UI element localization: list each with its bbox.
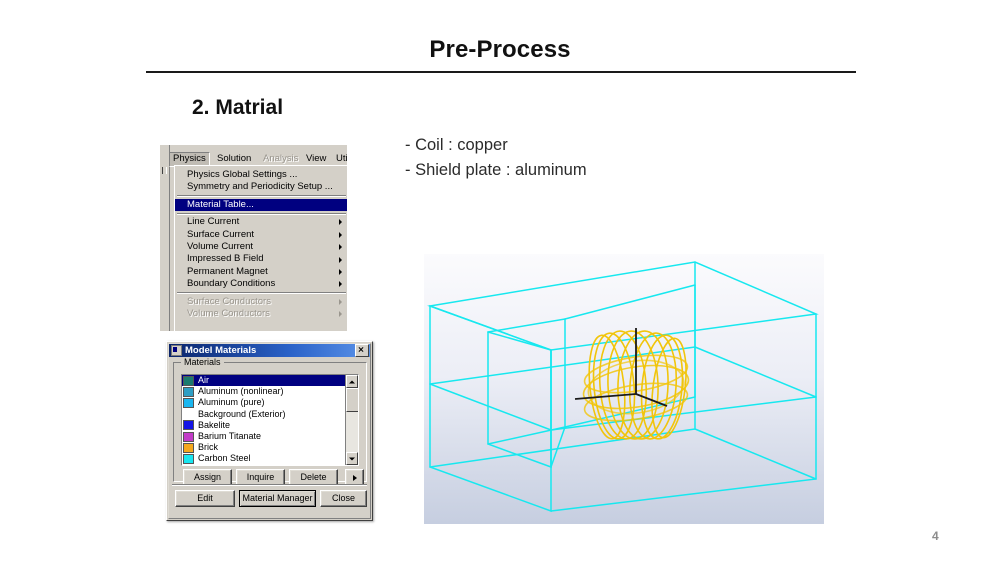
menubar-item-utility[interactable]: Uti	[332, 152, 347, 165]
dialog-footer-buttons: Edit Material Manager Close	[175, 490, 365, 506]
material-color-swatch	[183, 387, 194, 397]
material-name: Barium Titanate	[198, 431, 261, 442]
wireframe-model	[424, 254, 824, 524]
menu-separator	[177, 195, 346, 197]
material-name: Background (Exterior)	[198, 409, 286, 420]
menu-item-label: Line Current	[187, 216, 239, 227]
material-color-swatch	[183, 443, 194, 453]
menu-item-label: Impressed B Field	[187, 253, 264, 264]
menu-item-label: Volume Conductors	[187, 308, 270, 319]
menu-item-label: Boundary Conditions	[187, 278, 275, 289]
menu-separator	[177, 213, 346, 215]
submenu-arrow-icon	[339, 244, 342, 250]
materials-groupbox: Materials Air Aluminum (nonlinear) Alumi…	[173, 362, 367, 482]
submenu-arrow-icon	[339, 269, 342, 275]
menu-item-volume-conductors: Volume Conductors	[175, 308, 347, 320]
material-color-swatch	[183, 376, 194, 386]
list-item[interactable]: Air	[182, 375, 345, 386]
material-color-swatch	[183, 409, 194, 419]
material-color-swatch	[183, 454, 194, 464]
dialog-titlebar[interactable]: Model Materials	[169, 344, 370, 357]
menu-item-material-table[interactable]: Material Table...	[175, 199, 347, 211]
menu-item-volume-current[interactable]: Volume Current	[175, 241, 347, 253]
material-name: Aluminum (pure)	[198, 397, 265, 408]
close-icon[interactable]	[355, 344, 369, 357]
menu-separator	[177, 292, 346, 294]
toolbar-fragment	[160, 145, 170, 331]
scrollbar-thumb[interactable]	[346, 388, 359, 412]
inner-box-wireframe	[488, 285, 695, 467]
menu-item-impressed-b-field[interactable]: Impressed B Field	[175, 253, 347, 265]
page-title: Pre-Process	[0, 36, 1000, 64]
material-color-swatch	[183, 398, 194, 408]
menubar-item-view[interactable]: View	[302, 152, 330, 165]
menu-item-label: Surface Conductors	[187, 296, 271, 307]
menu-item-label: Volume Current	[187, 241, 253, 252]
physics-dropdown-menu[interactable]: Physics Global Settings ... Symmetry and…	[174, 165, 347, 331]
menu-item-label: Symmetry and Periodicity Setup ...	[187, 181, 333, 192]
menu-item-line-current[interactable]: Line Current	[175, 216, 347, 228]
material-name: Brick	[198, 442, 218, 453]
materials-action-buttons: Assign Inquire Delete	[183, 469, 371, 484]
model-3d-viewport[interactable]	[424, 254, 824, 524]
material-manager-button[interactable]: Material Manager	[239, 490, 316, 507]
menu-item-surface-conductors: Surface Conductors	[175, 296, 347, 308]
materials-listbox-wrapper[interactable]: Air Aluminum (nonlinear) Aluminum (pure)…	[181, 374, 359, 466]
list-item[interactable]: Aluminum (nonlinear)	[182, 386, 345, 397]
submenu-arrow-icon	[339, 257, 342, 263]
material-name: Bakelite	[198, 420, 230, 431]
menu-item-surface-current[interactable]: Surface Current	[175, 229, 347, 241]
material-name: Air	[198, 375, 209, 386]
submenu-arrow-icon	[339, 232, 342, 238]
right-arrow-icon	[353, 475, 357, 481]
submenu-arrow-icon	[339, 219, 342, 225]
close-button[interactable]: Close	[320, 490, 367, 507]
menu-item-physics-global-settings[interactable]: Physics Global Settings ...	[175, 169, 347, 181]
list-item[interactable]: Carbon Steel	[182, 453, 345, 464]
physics-menu-screenshot: Physics Solution Analysis View Uti Physi…	[160, 145, 347, 331]
materials-group-label: Materials	[181, 357, 224, 367]
edit-button[interactable]: Edit	[175, 490, 235, 507]
menu-item-label: Permanent Magnet	[187, 266, 268, 277]
menu-item-label: Physics Global Settings ...	[187, 169, 297, 180]
material-color-swatch	[183, 420, 194, 430]
menubar-item-analysis: Analysis	[259, 152, 302, 165]
menubar-item-solution[interactable]: Solution	[213, 152, 255, 165]
scroll-down-icon[interactable]	[346, 452, 358, 465]
list-item[interactable]: Bakelite	[182, 420, 345, 431]
scrollbar-track[interactable]	[346, 388, 358, 452]
material-bullet-list: - Coil : copper - Shield plate : aluminu…	[405, 133, 587, 183]
menu-item-label: Surface Current	[187, 229, 254, 240]
material-name: Carbon Steel	[198, 453, 251, 464]
dialog-divider	[172, 484, 367, 486]
menu-item-permanent-magnet[interactable]: Permanent Magnet	[175, 266, 347, 278]
materials-listbox[interactable]: Air Aluminum (nonlinear) Aluminum (pure)…	[182, 375, 345, 465]
scroll-up-icon[interactable]	[346, 375, 358, 388]
list-item[interactable]: Brick	[182, 442, 345, 453]
materials-list-scrollbar[interactable]	[345, 375, 358, 465]
menu-item-label: Material Table...	[187, 199, 254, 210]
menu-item-boundary-conditions[interactable]: Boundary Conditions	[175, 278, 347, 290]
section-heading: 2. Matrial	[192, 96, 283, 120]
list-item[interactable]: Aluminum (pure)	[182, 397, 345, 408]
submenu-arrow-icon	[339, 299, 342, 305]
material-name: Aluminum (nonlinear)	[198, 386, 284, 397]
application-menubar[interactable]: Physics Solution Analysis View Uti	[169, 152, 347, 165]
dialog-title: Model Materials	[185, 345, 355, 356]
model-materials-dialog: Model Materials Materials Air Aluminum (…	[166, 341, 373, 521]
submenu-arrow-icon	[339, 281, 342, 287]
window-icon	[171, 345, 182, 356]
material-color-swatch	[183, 432, 194, 442]
submenu-arrow-icon	[339, 311, 342, 317]
list-item[interactable]: Barium Titanate	[182, 431, 345, 442]
menu-item-symmetry-periodicity-setup[interactable]: Symmetry and Periodicity Setup ...	[175, 181, 347, 193]
page-number: 4	[932, 529, 939, 543]
list-item[interactable]: Background (Exterior)	[182, 409, 345, 420]
title-divider	[146, 71, 856, 73]
